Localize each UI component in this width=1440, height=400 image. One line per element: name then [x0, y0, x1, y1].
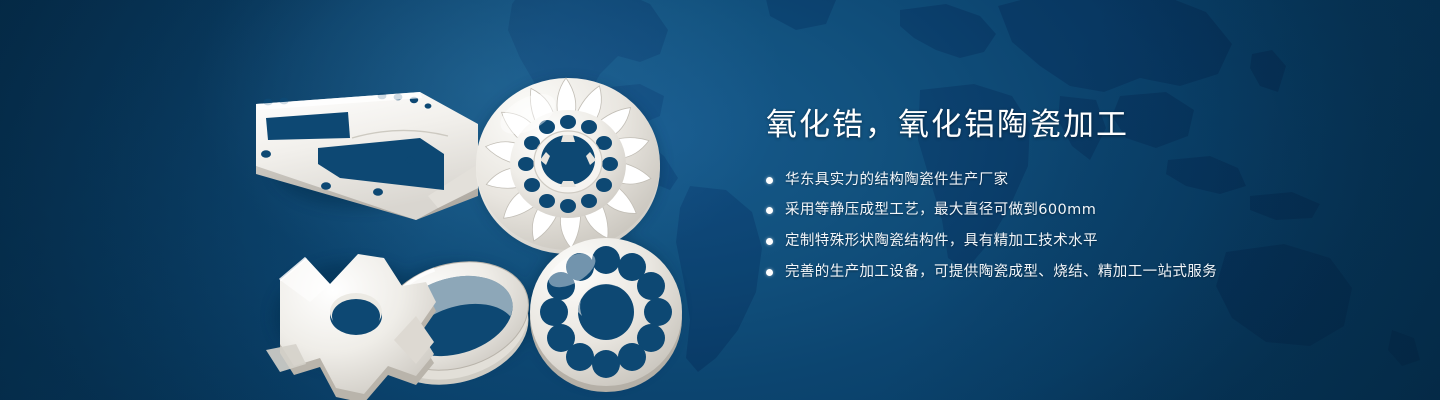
list-item: 华东具实力的结构陶瓷件生产厂家: [766, 170, 1386, 192]
banner-copy: 氧化锆，氧化铝陶瓷加工 华东具实力的结构陶瓷件生产厂家 采用等静压成型工艺，最大…: [766, 108, 1386, 293]
list-item-label: 采用等静压成型工艺，最大直径可做到600mm: [785, 202, 1096, 218]
ceramic-plate: [256, 92, 478, 220]
bullet-dot-icon: [766, 177, 773, 184]
ceramic-impeller: [476, 78, 660, 254]
bullet-dot-icon: [766, 238, 773, 245]
list-item: 完善的生产加工设备，可提供陶瓷成型、烧结、精加工一站式服务: [766, 262, 1386, 284]
list-item: 定制特殊形状陶瓷结构件，具有精加工技术水平: [766, 231, 1386, 253]
feature-list: 华东具实力的结构陶瓷件生产厂家 采用等静压成型工艺，最大直径可做到600mm 定…: [766, 170, 1386, 284]
ceramic-products-image: [232, 34, 702, 390]
ceramic-hole-disc: [530, 238, 682, 392]
page-title: 氧化锆，氧化铝陶瓷加工: [766, 108, 1386, 144]
bullet-dot-icon: [766, 269, 773, 276]
list-item-label: 华东具实力的结构陶瓷件生产厂家: [785, 172, 1009, 188]
product-banner: 氧化锆，氧化铝陶瓷加工 华东具实力的结构陶瓷件生产厂家 采用等静压成型工艺，最大…: [0, 0, 1440, 400]
bullet-dot-icon: [766, 207, 773, 214]
list-item-label: 定制特殊形状陶瓷结构件，具有精加工技术水平: [785, 233, 1098, 249]
list-item: 采用等静压成型工艺，最大直径可做到600mm: [766, 200, 1386, 222]
list-item-label: 完善的生产加工设备，可提供陶瓷成型、烧结、精加工一站式服务: [785, 264, 1217, 280]
